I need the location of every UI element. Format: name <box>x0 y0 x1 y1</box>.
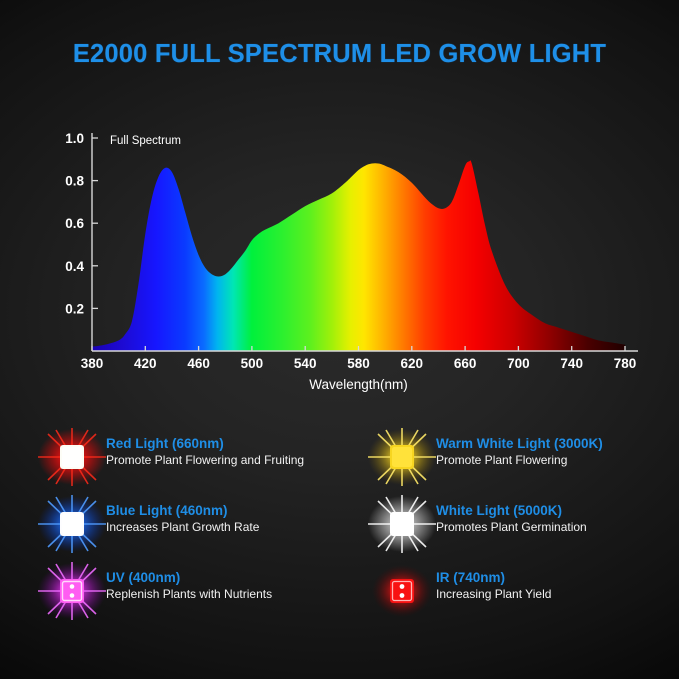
x-axis-tick-label: 460 <box>187 356 210 371</box>
x-axis-title: Wavelength(nm) <box>309 377 408 392</box>
y-axis-tick-label: 0.8 <box>65 174 84 189</box>
spectrum-area <box>92 160 625 351</box>
x-axis-tick-label: 740 <box>560 356 583 371</box>
legend-title: IR (740nm) <box>436 569 679 586</box>
legend-title: White Light (5000K) <box>436 502 679 519</box>
led-blue-icon-svg <box>34 495 110 553</box>
legend-item-red-light[interactable]: Red Light (660nm) Promote Plant Flowerin… <box>34 428 364 486</box>
led-white-icon <box>364 495 440 553</box>
product-infographic: E2000 FULL SPECTRUM LED GROW LIGHT <box>0 0 679 679</box>
legend-title: Blue Light (460nm) <box>106 502 371 519</box>
x-axis-tick-label: 580 <box>347 356 370 371</box>
y-axis-tick-label: 1.0 <box>65 131 84 146</box>
legend-subtitle: Promote Plant Flowering <box>436 452 679 468</box>
led-red-icon-svg <box>34 428 110 486</box>
spectrum-chart: 380420460500540580620660700740780 0.20.4… <box>55 122 655 392</box>
led-legend-column-left: Red Light (660nm) Promote Plant Flowerin… <box>34 428 364 629</box>
legend-subtitle: Replenish Plants with Nutrients <box>106 586 371 602</box>
x-axis-tick-label: 540 <box>294 356 317 371</box>
legend-text-uv: UV (400nm) Replenish Plants with Nutrien… <box>106 569 371 602</box>
legend-item-uv[interactable]: UV (400nm) Replenish Plants with Nutrien… <box>34 562 364 620</box>
y-axis-tick-label: 0.6 <box>65 216 84 231</box>
legend-title: UV (400nm) <box>106 569 371 586</box>
x-axis-tick-label: 780 <box>614 356 637 371</box>
legend-text-red-light: Red Light (660nm) Promote Plant Flowerin… <box>106 435 371 468</box>
legend-item-ir[interactable]: IR (740nm) Increasing Plant Yield <box>364 562 679 620</box>
page-title: E2000 FULL SPECTRUM LED GROW LIGHT <box>0 40 679 69</box>
legend-title: Warm White Light (3000K) <box>436 435 679 452</box>
led-ir-icon-svg <box>364 562 440 620</box>
legend-subtitle: Promote Plant Flowering and Fruiting <box>106 452 371 468</box>
spectrum-chart-svg: 380420460500540580620660700740780 0.20.4… <box>55 122 655 392</box>
legend-subtitle: Increasing Plant Yield <box>436 586 679 602</box>
legend-item-blue-light[interactable]: Blue Light (460nm) Increases Plant Growt… <box>34 495 364 553</box>
x-axis-tick-label: 700 <box>507 356 530 371</box>
led-legend: Red Light (660nm) Promote Plant Flowerin… <box>0 428 679 628</box>
chart-series-label: Full Spectrum <box>110 135 181 147</box>
led-uv-icon-svg <box>34 562 110 620</box>
x-axis-tick-label: 620 <box>401 356 424 371</box>
x-axis-tick-label: 500 <box>241 356 264 371</box>
legend-item-warm-white-light[interactable]: Warm White Light (3000K) Promote Plant F… <box>364 428 679 486</box>
led-blue-icon <box>34 495 110 553</box>
led-red-icon <box>34 428 110 486</box>
legend-item-white-light[interactable]: White Light (5000K) Promotes Plant Germi… <box>364 495 679 553</box>
y-axis-tick-labels: 0.20.40.60.81.0 <box>65 131 84 316</box>
x-axis-tick-label: 660 <box>454 356 477 371</box>
legend-text-white-light: White Light (5000K) Promotes Plant Germi… <box>436 502 679 535</box>
led-legend-column-right: Warm White Light (3000K) Promote Plant F… <box>364 428 679 629</box>
legend-text-warm-white-light: Warm White Light (3000K) Promote Plant F… <box>436 435 679 468</box>
legend-text-blue-light: Blue Light (460nm) Increases Plant Growt… <box>106 502 371 535</box>
legend-title: Red Light (660nm) <box>106 435 371 452</box>
x-axis-tick-labels: 380420460500540580620660700740780 <box>81 356 637 371</box>
legend-text-ir: IR (740nm) Increasing Plant Yield <box>436 569 679 602</box>
legend-subtitle: Increases Plant Growth Rate <box>106 519 371 535</box>
legend-subtitle: Promotes Plant Germination <box>436 519 679 535</box>
led-warm-white-icon <box>364 428 440 486</box>
x-axis-tick-label: 380 <box>81 356 104 371</box>
x-axis-tick-label: 420 <box>134 356 157 371</box>
led-ir-icon <box>364 562 440 620</box>
y-axis-tick-label: 0.4 <box>65 259 84 274</box>
y-axis-tick-label: 0.2 <box>65 301 84 316</box>
led-white-icon-svg <box>364 495 440 553</box>
led-uv-icon <box>34 562 110 620</box>
led-warm-white-icon-svg <box>364 428 440 486</box>
